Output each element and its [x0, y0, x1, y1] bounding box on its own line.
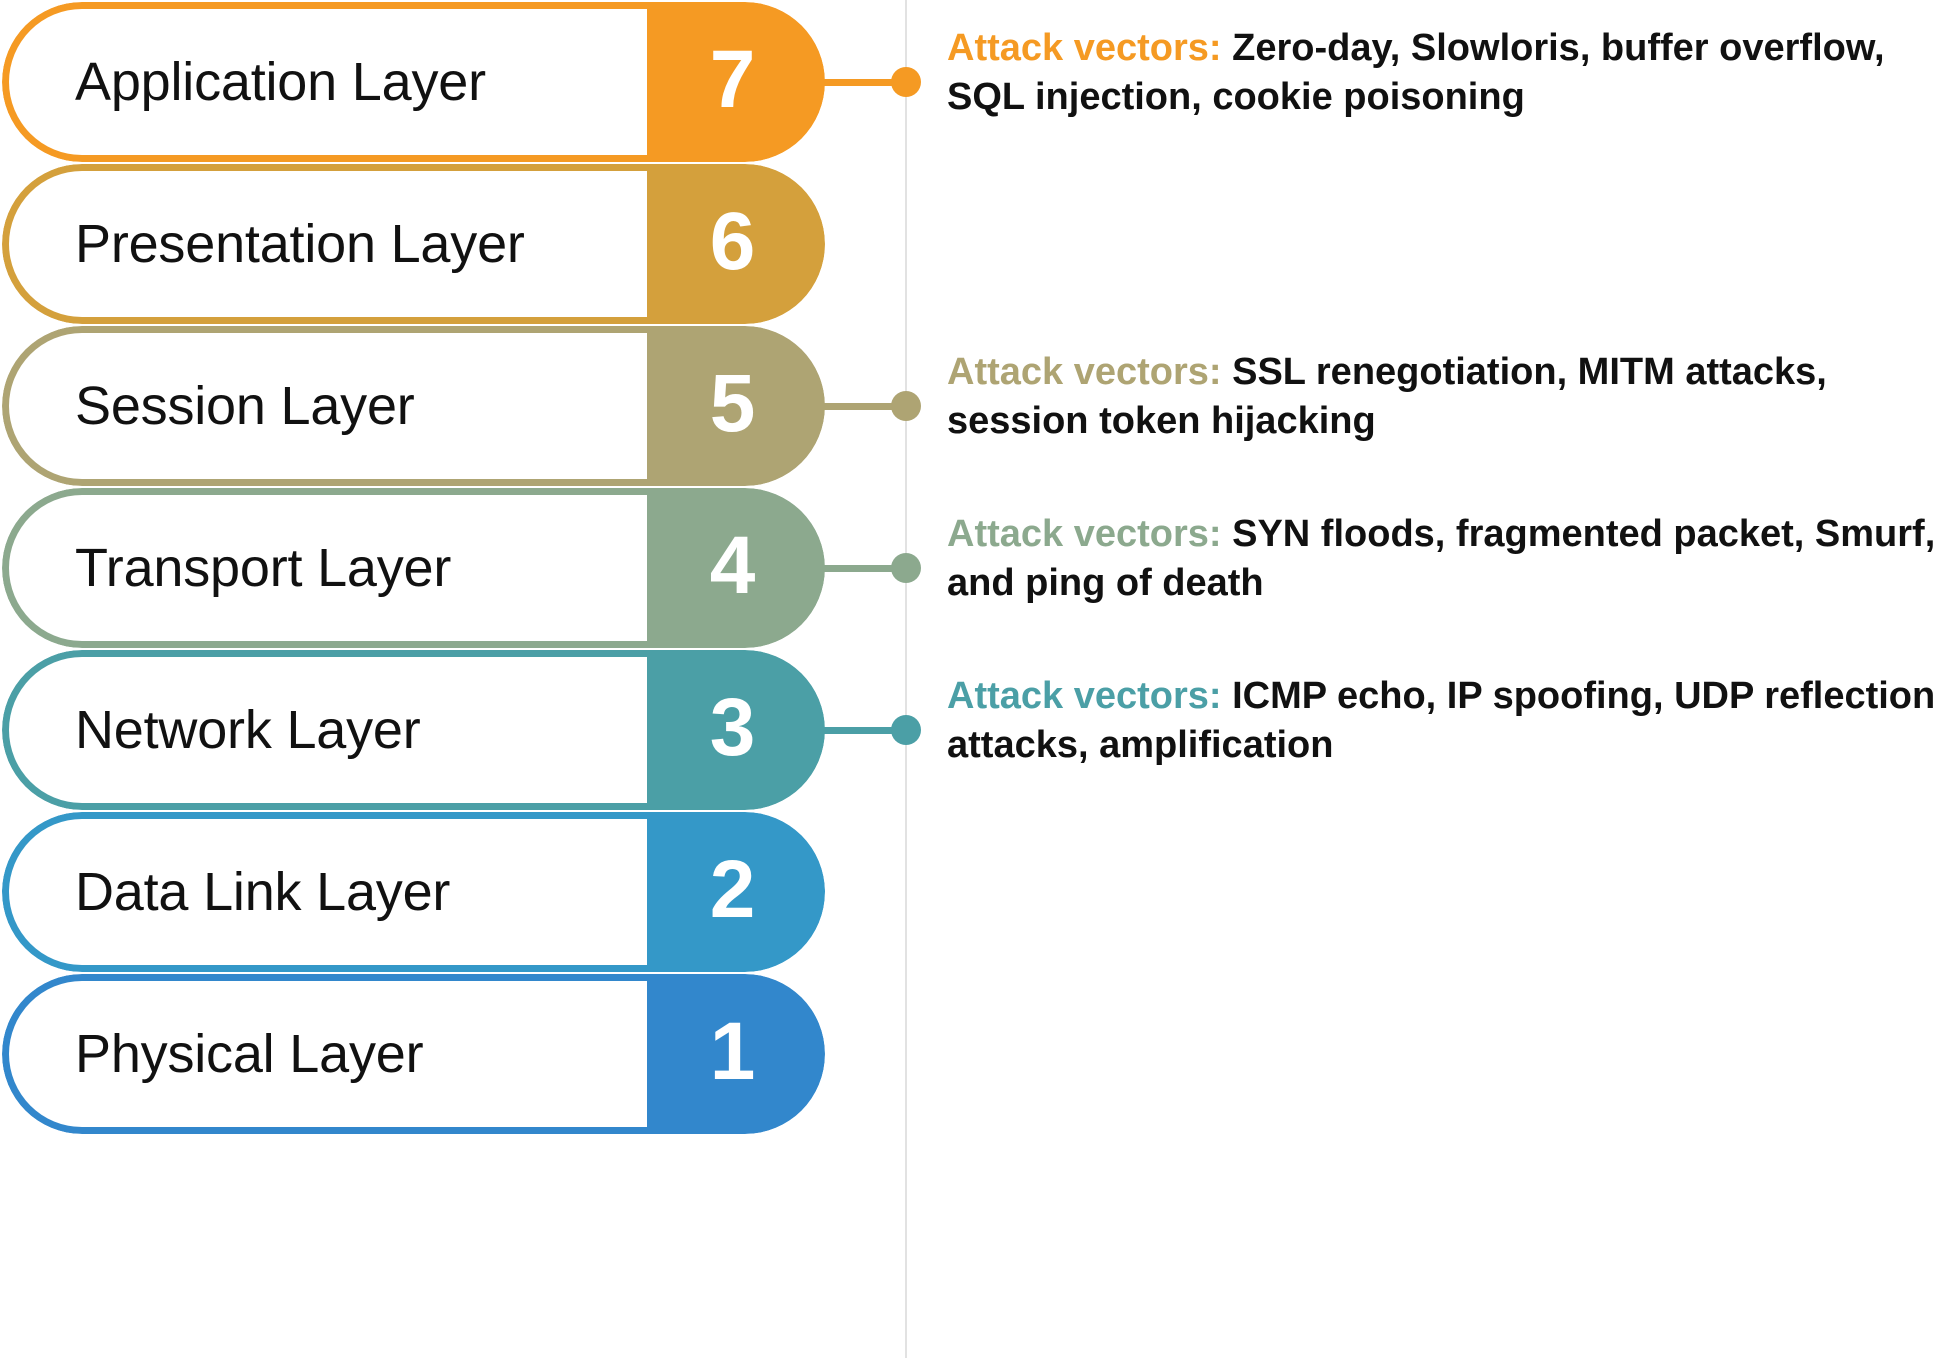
connector	[820, 75, 920, 89]
connector	[820, 399, 920, 413]
layer-pill-5[interactable]: 5Session Layer	[2, 326, 825, 486]
layer-name-area: Presentation Layer	[2, 164, 647, 324]
layer-number: 5	[710, 363, 756, 445]
attack-vectors-note: Attack vectors: Zero-day, Slowloris, buf…	[947, 24, 1939, 123]
layer-name-area: Data Link Layer	[2, 812, 647, 972]
layer-name-area: Transport Layer	[2, 488, 647, 648]
layer-number-badge: 7	[640, 2, 825, 162]
layer-name-label: Network Layer	[9, 699, 421, 761]
connector-dot	[891, 553, 921, 583]
connector-dot	[891, 715, 921, 745]
layer-number-badge: 1	[640, 974, 825, 1134]
layer-name-label: Transport Layer	[9, 537, 451, 599]
connector-dot	[891, 391, 921, 421]
attack-vectors-label: Attack vectors:	[947, 513, 1222, 555]
connector	[820, 561, 920, 575]
connector	[820, 723, 920, 737]
layer-pill-3[interactable]: 3Network Layer	[2, 650, 825, 810]
vertical-divider	[905, 0, 907, 1358]
layer-number: 3	[710, 687, 756, 769]
layer-number-badge: 5	[640, 326, 825, 486]
layer-pill-1[interactable]: 1Physical Layer	[2, 974, 825, 1134]
layer-name-label: Data Link Layer	[9, 861, 450, 923]
layer-number-badge: 3	[640, 650, 825, 810]
layer-number: 6	[710, 201, 756, 283]
attack-vectors-label: Attack vectors:	[947, 351, 1222, 393]
layer-name-area: Application Layer	[2, 2, 647, 162]
layer-name-area: Session Layer	[2, 326, 647, 486]
attack-vectors-label: Attack vectors:	[947, 27, 1222, 69]
layer-pill-4[interactable]: 4Transport Layer	[2, 488, 825, 648]
layer-number-badge: 2	[640, 812, 825, 972]
layer-name-label: Session Layer	[9, 375, 415, 437]
layer-number-badge: 6	[640, 164, 825, 324]
layer-pill-2[interactable]: 2Data Link Layer	[2, 812, 825, 972]
osi-diagram: 7Application Layer6Presentation Layer5Se…	[0, 0, 1939, 1358]
layer-number: 4	[710, 525, 756, 607]
layer-number-badge: 4	[640, 488, 825, 648]
layer-name-label: Physical Layer	[9, 1023, 423, 1085]
attack-vectors-label: Attack vectors:	[947, 675, 1222, 717]
layer-number: 1	[710, 1011, 756, 1093]
attack-vectors-note: Attack vectors: SYN floods, fragmented p…	[947, 510, 1939, 609]
attack-vectors-note: Attack vectors: ICMP echo, IP spoofing, …	[947, 672, 1939, 771]
layer-name-label: Application Layer	[9, 51, 486, 113]
attack-vectors-note: Attack vectors: SSL renegotiation, MITM …	[947, 348, 1939, 447]
layer-number: 7	[710, 39, 756, 121]
layer-pill-7[interactable]: 7Application Layer	[2, 2, 825, 162]
connector-dot	[891, 67, 921, 97]
layer-name-area: Network Layer	[2, 650, 647, 810]
layer-name-label: Presentation Layer	[9, 213, 525, 275]
layer-pill-6[interactable]: 6Presentation Layer	[2, 164, 825, 324]
layer-name-area: Physical Layer	[2, 974, 647, 1134]
layer-number: 2	[710, 849, 756, 931]
